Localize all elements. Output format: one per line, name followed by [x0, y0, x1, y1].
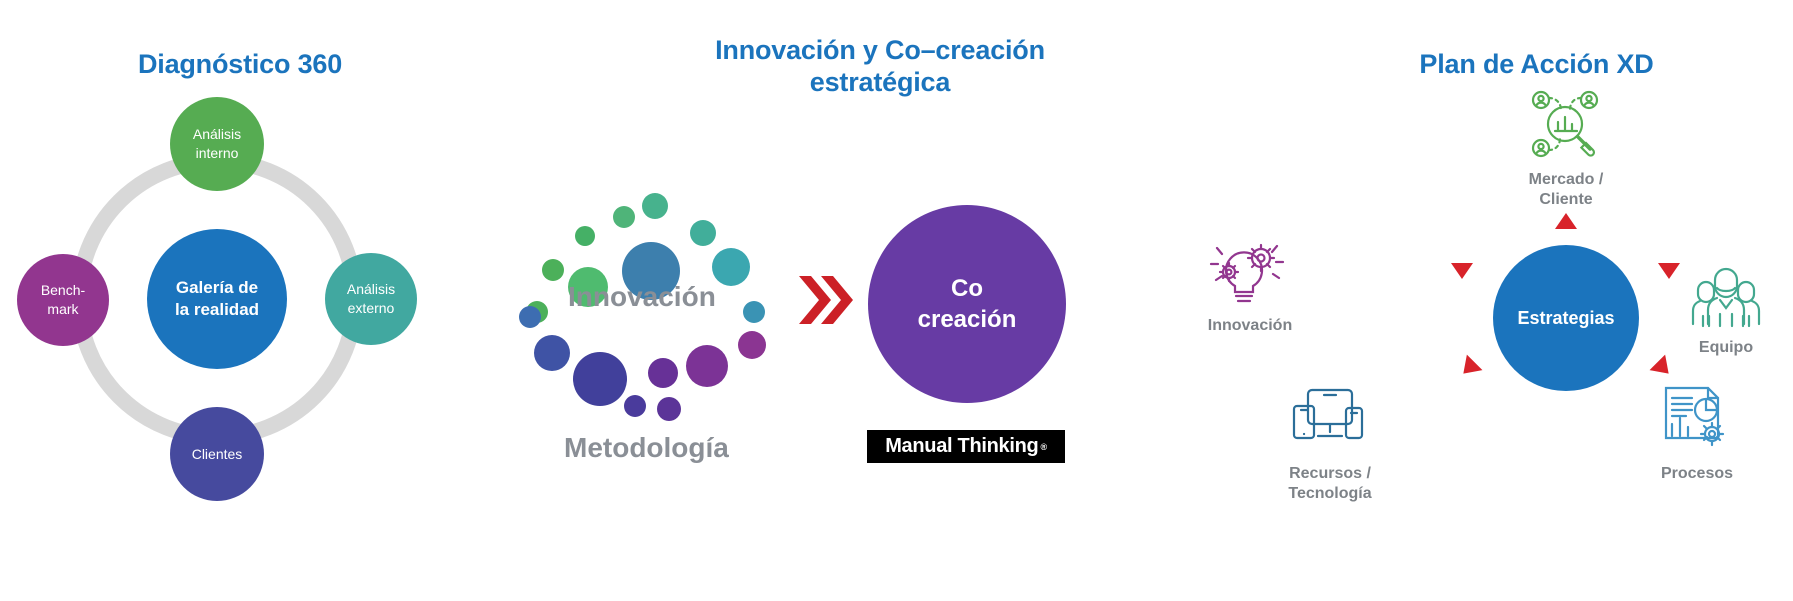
swarm-dot	[613, 206, 635, 228]
swarm-dot	[648, 358, 678, 388]
spoke-mercado-cliente[interactable]: Mercado / Cliente	[1506, 86, 1626, 210]
node-analisis-interno[interactable]: Análisis interno	[170, 97, 264, 191]
swarm-dot	[534, 335, 570, 371]
swarm-dot	[542, 259, 564, 281]
lightbulb-gears-icon	[1160, 232, 1340, 310]
spoke-equipo[interactable]: Equipo	[1671, 254, 1781, 358]
swarm-dot	[642, 193, 668, 219]
spoke-procesos-label: Procesos	[1637, 464, 1757, 484]
node-co-creacion-label: Co creación	[918, 273, 1017, 335]
spoke-innovacion[interactable]: Innovación	[1160, 232, 1340, 336]
node-galeria-de-la-realidad[interactable]: Galería de la realidad	[147, 229, 287, 369]
slide-canvas: Diagnóstico 360 Análisis interno Bench- …	[0, 0, 1793, 601]
swarm-dot	[624, 395, 646, 417]
swarm-dot	[519, 306, 541, 328]
report-gear-icon	[1637, 380, 1757, 458]
spoke-equipo-label: Equipo	[1671, 338, 1781, 358]
node-clientes[interactable]: Clientes	[170, 407, 264, 501]
double-chevron-right-icon	[797, 272, 855, 328]
devices-icon	[1240, 380, 1420, 458]
spoke-innovacion-label: Innovación	[1160, 316, 1340, 336]
brand-badge-text: Manual Thinking	[885, 435, 1038, 458]
spoke-mercado-cliente-label: Mercado / Cliente	[1506, 170, 1626, 210]
node-galeria-label: Galería de la realidad	[175, 277, 259, 321]
page-title-innovacion: Innovación y Co–creación estratégica	[480, 34, 1280, 98]
spoke-recursos-tecnologia[interactable]: Recursos / Tecnología	[1240, 380, 1420, 504]
swarm-dot	[712, 248, 750, 286]
page-title-diagnostico: Diagnóstico 360	[0, 48, 480, 80]
spoke-recursos-tecnologia-label: Recursos / Tecnología	[1240, 464, 1420, 504]
dot-swarm-bottom-arc	[519, 306, 766, 421]
swarm-dot	[573, 352, 627, 406]
arrow-to-mercado	[1555, 213, 1577, 229]
swarm-label-metodologia: Metodología	[564, 432, 729, 464]
spoke-procesos[interactable]: Procesos	[1637, 380, 1757, 484]
swarm-dot	[575, 226, 595, 246]
swarm-dot	[743, 301, 765, 323]
panel-plan-de-accion-xd: Plan de Acción XD Estrategias	[1280, 0, 1793, 601]
arrow-to-procesos	[1650, 355, 1677, 382]
swarm-dot	[657, 397, 681, 421]
node-analisis-externo[interactable]: Análisis externo	[325, 253, 417, 345]
node-estrategias[interactable]: Estrategias	[1493, 245, 1639, 391]
node-clientes-label: Clientes	[192, 445, 243, 464]
page-title-plan: Plan de Acción XD	[1280, 48, 1793, 80]
arrow-to-recursos	[1456, 355, 1483, 382]
market-research-magnifier-icon	[1506, 86, 1626, 164]
node-estrategias-label: Estrategias	[1517, 308, 1614, 329]
node-analisis-interno-label: Análisis interno	[193, 125, 241, 163]
swarm-dot	[690, 220, 716, 246]
swarm-dot	[738, 331, 766, 359]
brand-badge-manual-thinking: Manual Thinking®	[867, 430, 1065, 463]
node-benchmark[interactable]: Bench- mark	[17, 254, 109, 346]
swarm-dot	[686, 345, 728, 387]
node-benchmark-label: Bench- mark	[41, 281, 85, 319]
arrow-to-innovacion	[1451, 263, 1473, 279]
team-people-icon	[1671, 254, 1781, 332]
node-co-creacion[interactable]: Co creación	[868, 205, 1066, 403]
swarm-label-innovacion: Innovación	[568, 281, 716, 313]
panel-diagnostico-360: Diagnóstico 360 Análisis interno Bench- …	[0, 0, 480, 601]
node-analisis-externo-label: Análisis externo	[347, 280, 395, 318]
brand-badge-registered-mark: ®	[1040, 442, 1046, 452]
